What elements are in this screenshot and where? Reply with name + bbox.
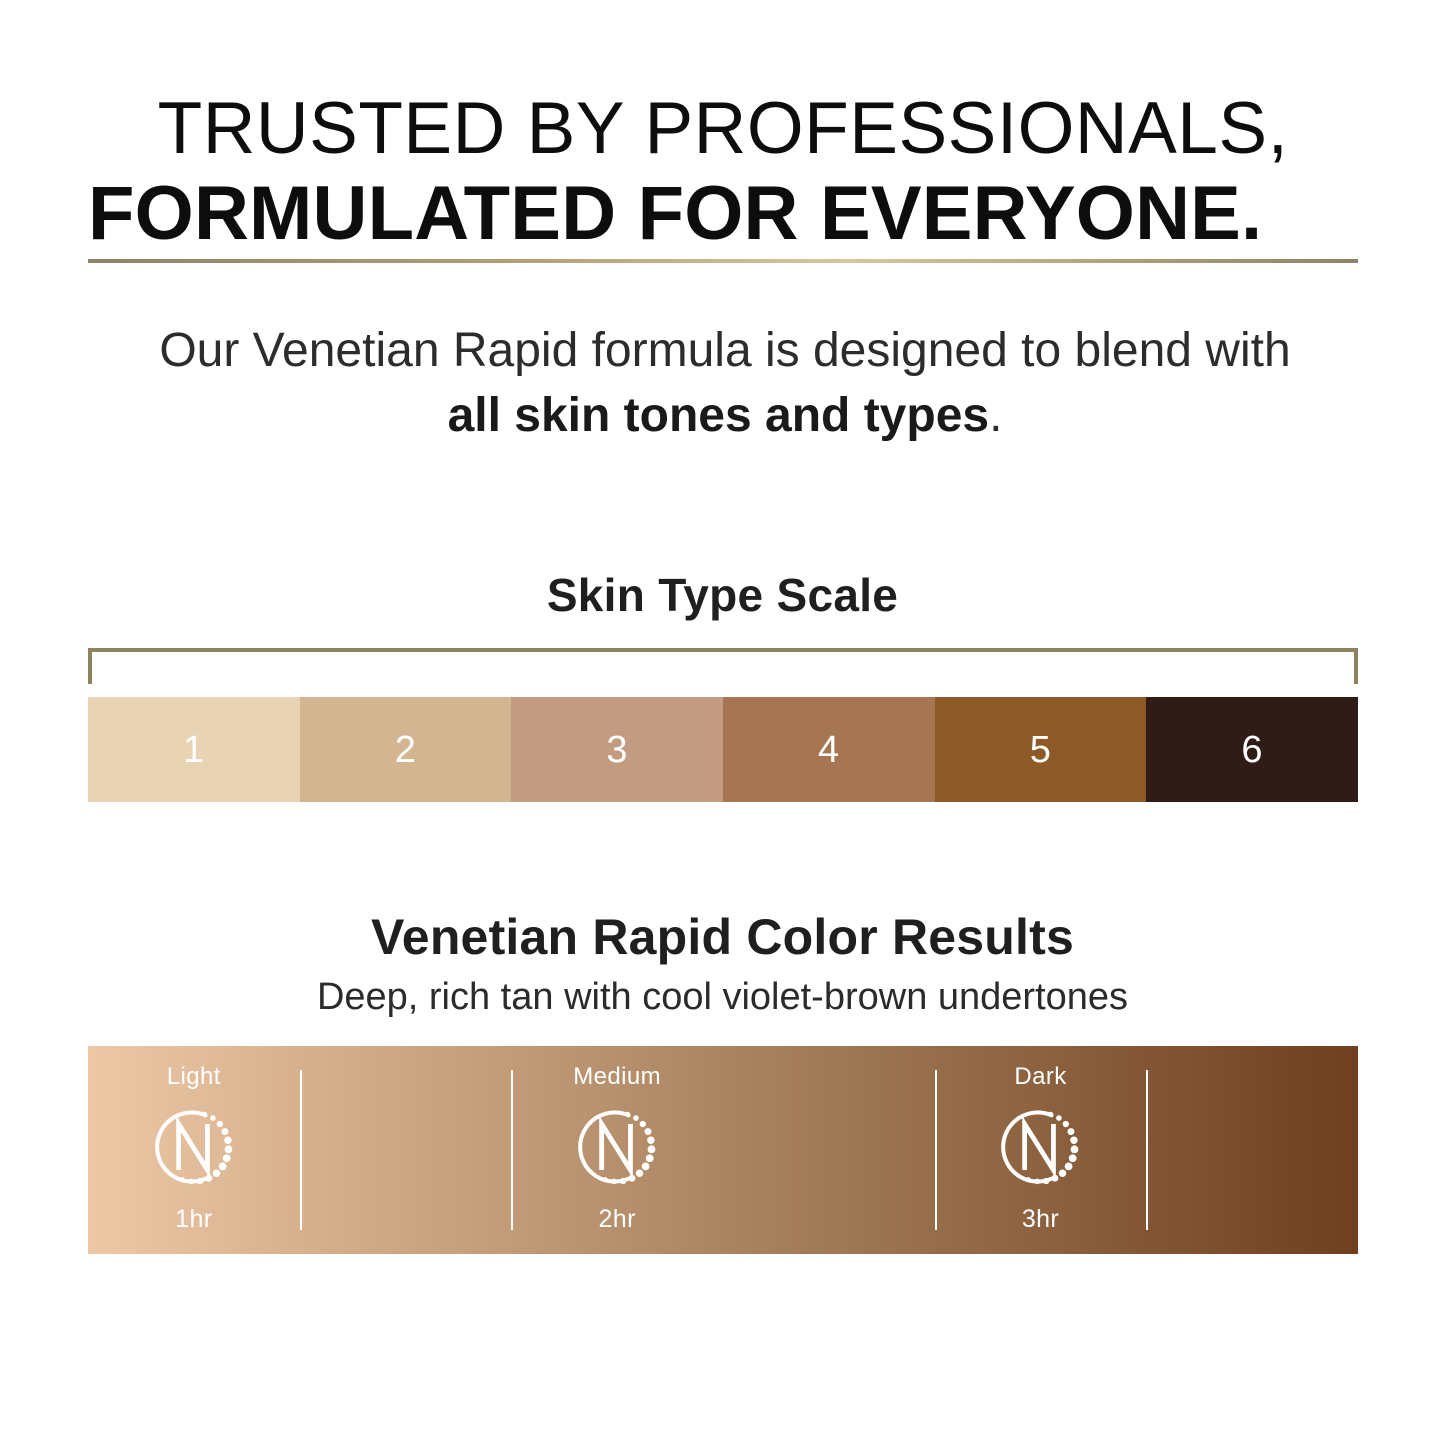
skin-tone-swatch[interactable]: 3 <box>511 697 723 802</box>
skin-type-scale-title: Skin Type Scale <box>0 568 1445 622</box>
color-results-gradient-bar: Light1hrMedium2hrDark3hr <box>88 1046 1358 1254</box>
headline-line-2: FORMULATED FOR EVERYONE. <box>88 171 1358 256</box>
tone-level-label: Medium <box>573 1065 661 1089</box>
tone-development-time-label: 3hr <box>1022 1207 1059 1232</box>
color-results-subtitle: Deep, rich tan with cool violet-brown un… <box>0 976 1445 1019</box>
gradient-bar-divider <box>300 1070 302 1230</box>
tone-level-label: Light <box>167 1065 221 1089</box>
gradient-bar-divider <box>1146 1070 1148 1230</box>
color-results-title: Venetian Rapid Color Results <box>0 908 1445 966</box>
swatch-number-label: 6 <box>1241 731 1263 769</box>
tone-result-column[interactable]: Dark3hr <box>935 1046 1147 1254</box>
subtitle-emphasis: all skin tones and types <box>448 389 990 442</box>
skin-tone-swatch[interactable]: 2 <box>300 697 512 802</box>
scale-bracket <box>88 648 1358 686</box>
subtitle: Our Venetian Rapid formula is designed t… <box>150 318 1300 448</box>
subtitle-text-after: . <box>989 389 1002 442</box>
infographic-page: TRUSTED BY PROFESSIONALS, FORMULATED FOR… <box>0 0 1445 1445</box>
n-monogram-logo-icon <box>146 1099 242 1195</box>
subtitle-text-before: Our Venetian Rapid formula is designed t… <box>159 324 1290 377</box>
bracket-tick-left <box>88 648 92 684</box>
tone-level-label: Dark <box>1014 1065 1066 1089</box>
bracket-tick-right <box>1354 648 1358 684</box>
headline-line-1: TRUSTED BY PROFESSIONALS, <box>88 86 1358 171</box>
skin-tone-swatch[interactable]: 1 <box>88 697 300 802</box>
skin-tone-swatch[interactable]: 6 <box>1146 697 1358 802</box>
n-monogram-logo-icon <box>992 1099 1088 1195</box>
swatch-number-label: 4 <box>818 731 840 769</box>
headline: TRUSTED BY PROFESSIONALS, FORMULATED FOR… <box>88 86 1358 256</box>
swatch-number-label: 3 <box>606 731 628 769</box>
n-monogram-logo-icon <box>569 1099 665 1195</box>
swatch-number-label: 2 <box>395 731 417 769</box>
skin-tone-swatch-row: 123456 <box>88 697 1358 802</box>
tone-result-column[interactable]: Medium2hr <box>511 1046 723 1254</box>
bracket-top-bar <box>88 648 1358 652</box>
tone-development-time-label: 1hr <box>175 1207 212 1232</box>
gold-divider-rule <box>88 259 1358 263</box>
skin-tone-swatch[interactable]: 4 <box>723 697 935 802</box>
skin-tone-swatch[interactable]: 5 <box>935 697 1147 802</box>
tone-result-column[interactable]: Light1hr <box>88 1046 300 1254</box>
tone-development-time-label: 2hr <box>598 1207 635 1232</box>
swatch-number-label: 5 <box>1030 731 1052 769</box>
swatch-number-label: 1 <box>183 731 205 769</box>
